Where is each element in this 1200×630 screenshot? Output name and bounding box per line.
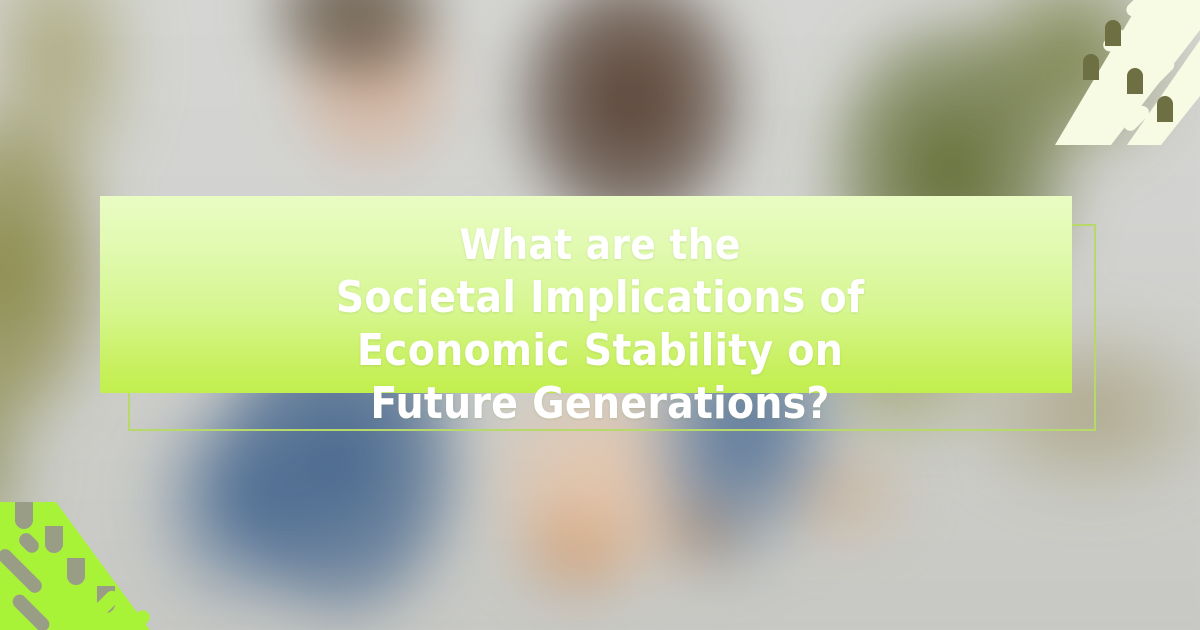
title-panel xyxy=(100,196,1072,393)
poster-canvas: What are the Societal Implications of Ec… xyxy=(0,0,1200,630)
